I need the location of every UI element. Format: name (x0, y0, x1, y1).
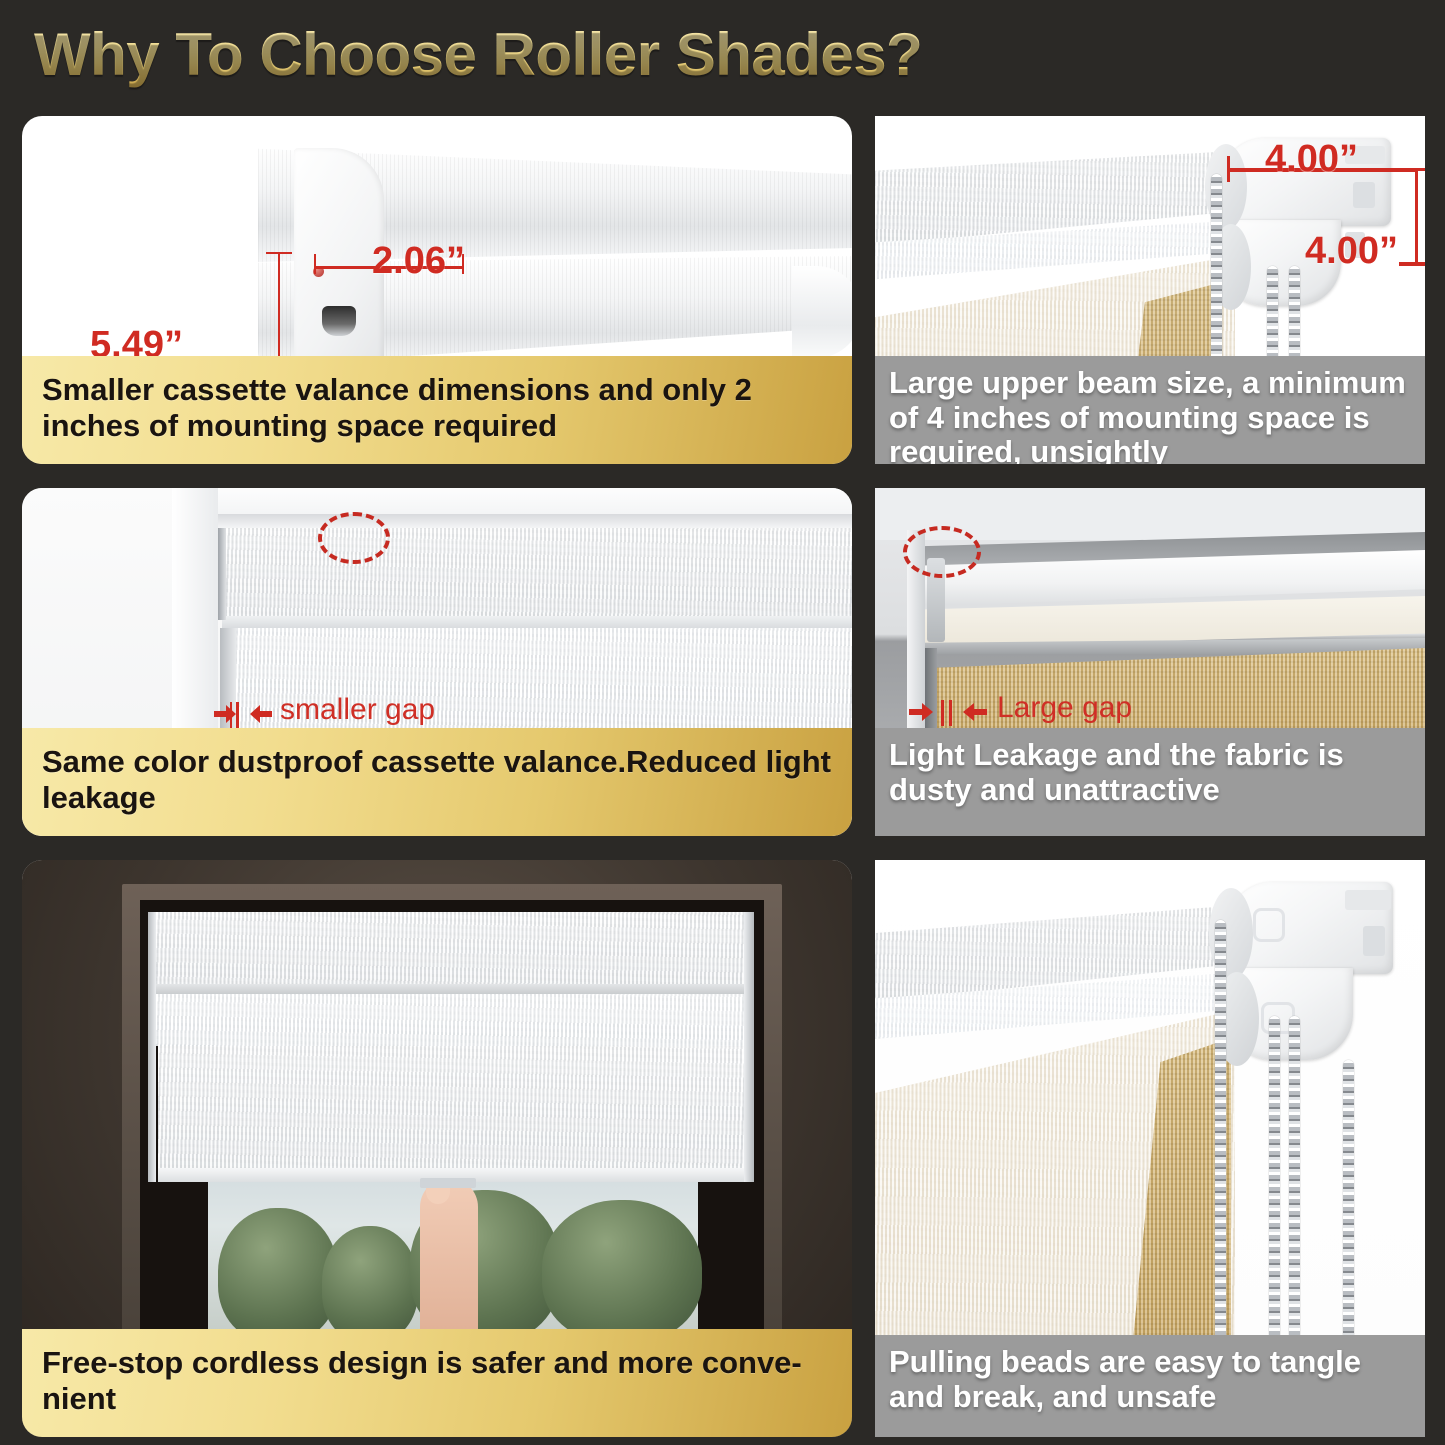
arrow-left-icon (250, 705, 272, 723)
caption-text: Same color dustproof cassette valance.Re… (42, 744, 832, 816)
caption-panel-1: Smaller cassette valance dimensions and … (22, 356, 852, 464)
caption-panel-5: Free-stop cordless design is safer and m… (22, 1329, 852, 1437)
caption-text: Pulling beads are easy to tangle and bre… (889, 1345, 1411, 1414)
panel-large-beam: 4.00” 4.00” Large upper beam size, a min… (875, 116, 1425, 464)
panel-light-leakage: Large gap Light Leakage and the fabric i… (875, 488, 1425, 836)
caption-text: Free-stop cordless design is safer and m… (42, 1345, 832, 1417)
arrow-left-icon (963, 703, 987, 721)
caption-text: Smaller cassette valance dimensions and … (42, 372, 832, 444)
panel-cordless-design: Free-stop cordless design is safer and m… (22, 860, 852, 1437)
gap-label: Large gap (997, 691, 1132, 725)
highlight-circle (903, 526, 981, 578)
gap-label: smaller gap (280, 693, 435, 727)
caption-text: Light Leakage and the fabric is dusty an… (889, 738, 1411, 807)
panel-pulling-beads: Pulling beads are easy to tangle and bre… (875, 860, 1425, 1437)
comparison-grid: 2.06” 5.49” Smaller cassette valance dim… (0, 108, 1445, 1445)
caption-text: Large upper beam size, a minimum of 4 in… (889, 366, 1411, 464)
panel-dustproof-valance: smaller gap Same color dustproof cassett… (22, 488, 852, 836)
caption-panel-3: Same color dustproof cassette valance.Re… (22, 728, 852, 836)
highlight-circle (318, 512, 390, 564)
arrow-right-icon (214, 705, 236, 723)
panel-smaller-cassette: 2.06” 5.49” Smaller cassette valance dim… (22, 116, 852, 464)
caption-panel-6: Pulling beads are easy to tangle and bre… (875, 1335, 1425, 1437)
dimension-label-height: 4.00” (1305, 230, 1398, 273)
arrow-right-icon (909, 703, 933, 721)
dimension-label-width: 4.00” (1265, 138, 1358, 181)
caption-panel-2: Large upper beam size, a minimum of 4 in… (875, 356, 1425, 464)
page-title: Why To Choose Roller Shades? (34, 20, 922, 89)
dimension-label-width: 2.06” (372, 240, 465, 283)
caption-panel-4: Light Leakage and the fabric is dusty an… (875, 728, 1425, 836)
header: Why To Choose Roller Shades? (0, 0, 1445, 108)
